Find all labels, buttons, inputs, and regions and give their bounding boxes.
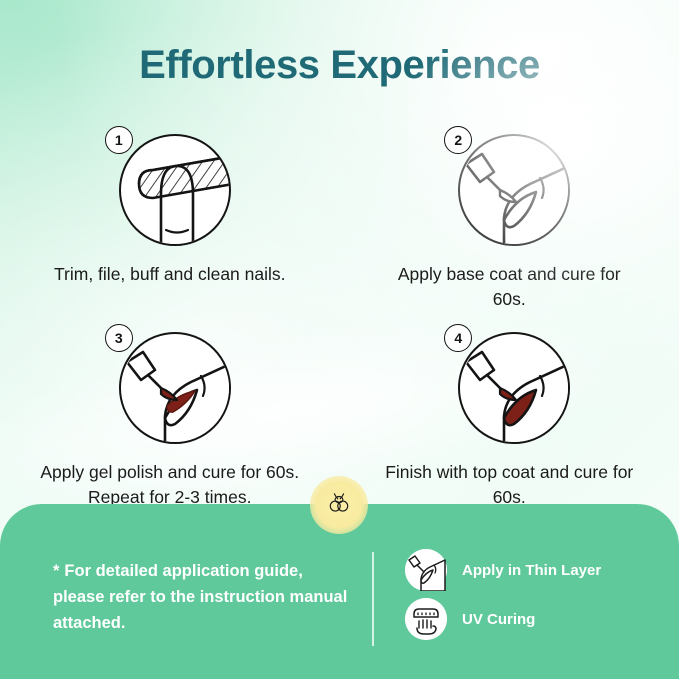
step-number-badge: 4	[444, 324, 472, 352]
step-number-badge: 2	[444, 126, 472, 154]
feature-uv-curing: UV Curing	[405, 598, 535, 640]
step-item: 4	[340, 324, 679, 510]
step-number-badge: 1	[105, 126, 133, 154]
step-illustration-wrap: 4	[444, 324, 574, 454]
step-caption: Apply gel polish and cure for 60s. Repea…	[40, 460, 300, 510]
step-illustration-wrap: 3	[105, 324, 235, 454]
thin-layer-brush-icon	[405, 549, 447, 591]
bee-logo-icon	[326, 490, 352, 521]
step-illustration-wrap: 2	[444, 126, 574, 256]
panel-divider	[372, 552, 374, 646]
steps-section: 1	[0, 126, 679, 510]
page-title: Effortless Experience	[0, 43, 679, 88]
step-caption: Apply base coat and cure for 60s.	[379, 262, 639, 312]
infographic-page: Effortless Experience 1	[0, 0, 679, 679]
step-illustration-wrap: 1	[105, 126, 235, 256]
nail-file-icon	[119, 134, 231, 246]
top-coat-brush-icon	[458, 332, 570, 444]
step-item: 3	[0, 324, 340, 510]
step-caption: Trim, file, buff and clean nails.	[40, 262, 300, 287]
brand-badge	[310, 476, 368, 534]
base-coat-brush-icon	[458, 134, 570, 246]
step-item: 2	[340, 126, 679, 312]
feature-apply-thin-layer: Apply in Thin Layer	[405, 549, 601, 591]
feature-label: Apply in Thin Layer	[462, 562, 601, 579]
note-marker: *	[53, 562, 59, 580]
gel-polish-brush-icon	[119, 332, 231, 444]
step-caption: Finish with top coat and cure for 60s.	[379, 460, 639, 510]
feature-label: UV Curing	[462, 611, 535, 628]
steps-row-1: 1	[0, 126, 679, 312]
note-text: For detailed application guide, please r…	[53, 562, 347, 632]
uv-lamp-icon	[405, 598, 447, 640]
step-number-badge: 3	[105, 324, 133, 352]
step-item: 1	[0, 126, 340, 312]
instruction-note: *For detailed application guide, please …	[53, 558, 353, 636]
